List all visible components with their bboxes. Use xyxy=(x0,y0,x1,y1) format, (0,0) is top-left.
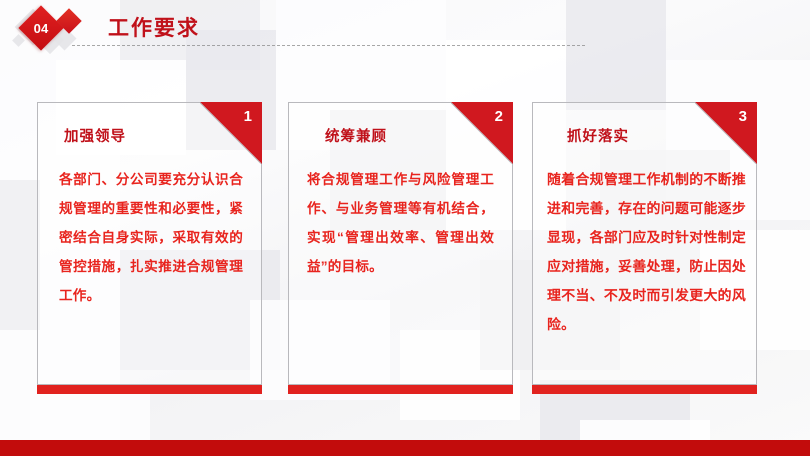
card-accent-bar xyxy=(532,385,757,394)
corner-fold xyxy=(200,102,262,164)
card-body: 抓好落实 随着合规管理工作机制的不断推进和完善，存在的问题可能逐步显现，各部门应… xyxy=(533,103,756,384)
card-item[interactable]: 抓好落实 随着合规管理工作机制的不断推进和完善，存在的问题可能逐步显现，各部门应… xyxy=(532,102,757,385)
card-title: 抓好落实 xyxy=(567,125,629,146)
card-title: 加强领导 xyxy=(64,125,126,146)
card-number: 2 xyxy=(495,108,503,125)
card-item[interactable]: 加强领导 各部门、分公司要充分认识合规管理的重要性和必要性，紧密结合自身实际，采… xyxy=(37,102,262,385)
corner-fold xyxy=(451,102,513,164)
corner-fold xyxy=(695,102,757,164)
footer-bar xyxy=(0,440,810,456)
card-text: 随着合规管理工作机制的不断推进和完善，存在的问题可能逐步显现，各部门应及时针对性… xyxy=(547,165,746,339)
card-number: 3 xyxy=(739,108,747,125)
card-accent-bar xyxy=(37,385,262,394)
card-item[interactable]: 统筹兼顾 将合规管理工作与风险管理工作、与业务管理等有机结合，实现“管理出效率、… xyxy=(288,102,513,385)
card-body: 加强领导 各部门、分公司要充分认识合规管理的重要性和必要性，紧密结合自身实际，采… xyxy=(38,103,261,384)
card-group: 加强领导 各部门、分公司要充分认识合规管理的重要性和必要性，紧密结合自身实际，采… xyxy=(0,0,810,456)
card-text: 将合规管理工作与风险管理工作、与业务管理等有机结合，实现“管理出效率、管理出效益… xyxy=(307,165,494,281)
card-text: 各部门、分公司要充分认识合规管理的重要性和必要性，紧密结合自身实际，采取有效的管… xyxy=(59,165,243,310)
card-number: 1 xyxy=(244,108,252,125)
card-accent-bar xyxy=(288,385,513,394)
card-title: 统筹兼顾 xyxy=(325,125,387,146)
slide-root: 04 工作要求 加强领导 各部门、分公司要充分认识合规管理的重要性和必要性，紧密… xyxy=(0,0,810,456)
card-body: 统筹兼顾 将合规管理工作与风险管理工作、与业务管理等有机结合，实现“管理出效率、… xyxy=(289,103,512,384)
